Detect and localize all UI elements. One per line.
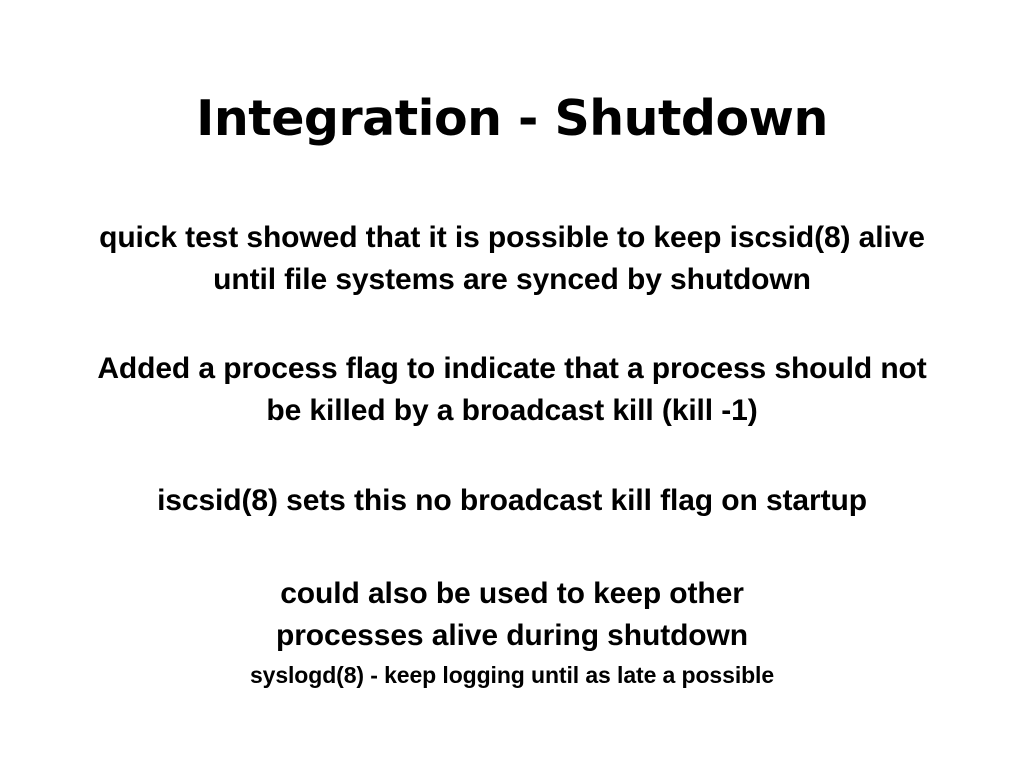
slide-text-line: Added a process flag to indicate that a … (0, 348, 1024, 390)
slide-text-line: quick test showed that it is possible to… (0, 217, 1024, 259)
slide-text-line: iscsid(8) sets this no broadcast kill fl… (0, 480, 1024, 522)
slide-text-line: until file systems are synced by shutdow… (0, 259, 1024, 301)
slide-text-line: be killed by a broadcast kill (kill -1) (0, 390, 1024, 432)
slide-block-process-flag-note: Added a process flag to indicate that a … (0, 348, 1024, 432)
slide-text-line: could also be used to keep other (0, 573, 1024, 615)
slide-block-iscsid-startup-note: iscsid(8) sets this no broadcast kill fl… (0, 480, 1024, 522)
slide-title: Integration - Shutdown (0, 92, 1024, 147)
slide-text-subline: syslogd(8) - keep logging until as late … (0, 657, 1024, 693)
slide-text-line: processes alive during shutdown (0, 615, 1024, 657)
presentation-slide: Integration - Shutdown quick test showed… (0, 0, 1024, 768)
slide-block-other-processes-note: could also be used to keep other process… (0, 573, 1024, 693)
slide-block-shutdown-sync-note: quick test showed that it is possible to… (0, 217, 1024, 301)
